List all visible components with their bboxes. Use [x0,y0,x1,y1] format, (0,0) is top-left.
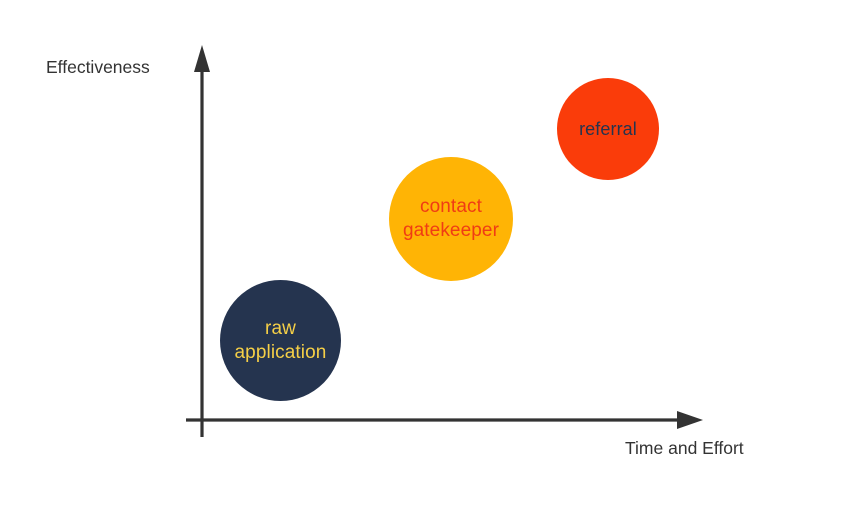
bubble-raw-application[interactable]: raw application [220,280,341,401]
diagram-canvas: Effectiveness Time and Effort raw applic… [0,0,860,520]
x-axis-arrowhead [677,411,703,429]
y-axis-arrowhead [194,45,210,72]
bubble-contact-gatekeeper[interactable]: contact gatekeeper [389,157,513,281]
bubble-contact-gatekeeper-label: contact gatekeeper [401,195,501,243]
bubble-raw-application-label: raw application [233,317,329,365]
x-axis-label: Time and Effort [625,438,744,459]
bubble-referral-label: referral [577,118,639,141]
bubble-referral[interactable]: referral [557,78,659,180]
y-axis-label: Effectiveness [46,57,150,78]
